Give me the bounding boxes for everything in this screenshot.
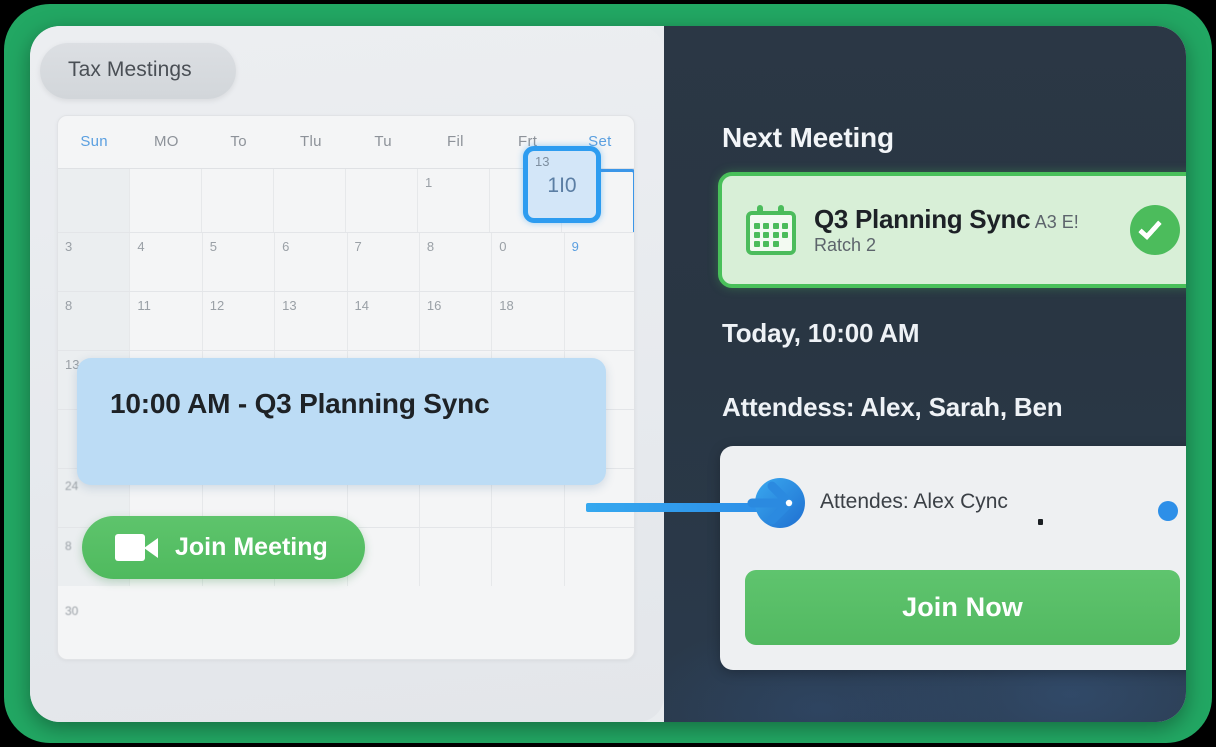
device-frame: Tax Mestings SunMOToTluTuFilFrtSet 12345… xyxy=(4,4,1212,743)
join-now-label: Join Now xyxy=(902,592,1023,623)
app-window: Tax Mestings SunMOToTluTuFilFrtSet 12345… xyxy=(30,26,1186,722)
day-number: 1 xyxy=(425,175,432,190)
calendar-day-cell[interactable] xyxy=(491,528,563,586)
calendar-day-cell[interactable]: 9 xyxy=(564,233,635,291)
status-badge xyxy=(1158,501,1178,521)
calendar-day-cell[interactable]: 7 xyxy=(347,233,419,291)
calendar-day-cell[interactable] xyxy=(345,169,417,232)
detail-pane-title: Next Meeting xyxy=(722,122,894,154)
day-header-0: Sun xyxy=(58,116,130,168)
calendar-day-cell[interactable]: 1 xyxy=(417,169,489,232)
hour-rail-label: 24 xyxy=(65,479,78,493)
day-number: 14 xyxy=(355,298,369,313)
calendar-day-cell[interactable] xyxy=(564,292,635,350)
calendar-day-cell[interactable]: 12 xyxy=(202,292,274,350)
calendar-pane: Tax Mestings SunMOToTluTuFilFrtSet 12345… xyxy=(30,26,664,722)
selected-day-badge: 1I0 xyxy=(528,174,596,198)
next-meeting-title: Q3 Planning Sync xyxy=(814,204,1030,234)
day-number: 8 xyxy=(65,298,72,313)
event-tooltip-card[interactable]: 10:00 AM - Q3 Planning Sync xyxy=(77,358,606,485)
day-number: 18 xyxy=(499,298,513,313)
video-camera-icon xyxy=(115,532,159,563)
calendar-day-cell[interactable] xyxy=(273,169,345,232)
day-number: 16 xyxy=(427,298,441,313)
day-number: 0 xyxy=(499,239,506,254)
event-tooltip-label: 10:00 AM - Q3 Planning Sync xyxy=(110,388,489,420)
page-title: Tax Mestings xyxy=(68,58,258,82)
next-meeting-text-block: Q3 Planning Sync A3 E! Ratch 2 xyxy=(814,204,1130,256)
selected-day-number: 13 xyxy=(535,154,549,169)
calendar-day-cell[interactable] xyxy=(129,169,201,232)
calendar-day-cell[interactable]: 13 xyxy=(274,292,346,350)
calendar-week-row: 8111213141618 xyxy=(58,291,635,350)
calendar-week-row: 34567809 xyxy=(58,232,635,291)
calendar-day-cell[interactable]: 16 xyxy=(419,292,491,350)
day-header-4: Tu xyxy=(347,116,419,168)
calendar-day-cell[interactable]: 14 xyxy=(347,292,419,350)
calendar-day-cell[interactable]: 3 xyxy=(58,233,129,291)
day-number: 7 xyxy=(355,239,362,254)
day-number: 6 xyxy=(282,239,289,254)
day-header-2: To xyxy=(203,116,275,168)
attendee-row-marker xyxy=(1038,519,1043,525)
calendar-day-cell[interactable]: 6 xyxy=(274,233,346,291)
calendar-day-cell[interactable]: 11 xyxy=(129,292,201,350)
attendee-row-label: Attendes: Alex Cync xyxy=(820,490,1008,514)
calendar-icon xyxy=(746,205,796,255)
meeting-time: Today, 10:00 AM xyxy=(722,318,919,349)
day-header-1: MO xyxy=(130,116,202,168)
calendar-day-cell[interactable] xyxy=(201,169,273,232)
calendar-day-cell[interactable]: 18 xyxy=(491,292,563,350)
hour-rail-label: 30 xyxy=(65,604,78,618)
calendar-day-cell[interactable]: 8 xyxy=(58,292,129,350)
join-meeting-label: Join Meeting xyxy=(175,533,328,562)
calendar-day-cell[interactable] xyxy=(419,528,491,586)
day-number: 13 xyxy=(282,298,296,313)
join-now-button[interactable]: Join Now xyxy=(745,570,1180,645)
calendar-day-cell[interactable]: 5 xyxy=(202,233,274,291)
hour-rail-label: 8 xyxy=(65,539,72,553)
day-number: 4 xyxy=(137,239,144,254)
join-meeting-button[interactable]: Join Meeting xyxy=(82,516,365,579)
day-header-3: Tlu xyxy=(275,116,347,168)
meeting-attendees: Attendess: Alex, Sarah, Ben xyxy=(722,392,1062,423)
day-number: 3 xyxy=(65,239,72,254)
calendar-day-cell[interactable]: 0 xyxy=(491,233,563,291)
day-number: 9 xyxy=(572,239,579,254)
day-header-5: Fil xyxy=(419,116,491,168)
day-number: 5 xyxy=(210,239,217,254)
day-number: 8 xyxy=(427,239,434,254)
calendar-day-selected[interactable]: 13 1I0 xyxy=(523,146,601,223)
attendee-action-card: Attendes: Alex Cync Join Now xyxy=(720,446,1186,670)
check-circle-icon xyxy=(1130,205,1180,255)
calendar-day-cell[interactable]: 4 xyxy=(129,233,201,291)
calendar-day-cell[interactable] xyxy=(58,169,129,232)
meeting-detail-pane: Next Meeting Q3 Planning Sync A3 E! Ratc… xyxy=(664,26,1186,722)
calendar-day-cell[interactable] xyxy=(564,528,635,586)
day-number: 12 xyxy=(210,298,224,313)
day-number: 11 xyxy=(137,298,151,313)
next-meeting-card[interactable]: Q3 Planning Sync A3 E! Ratch 2 xyxy=(718,172,1186,288)
calendar-day-cell[interactable]: 8 xyxy=(419,233,491,291)
